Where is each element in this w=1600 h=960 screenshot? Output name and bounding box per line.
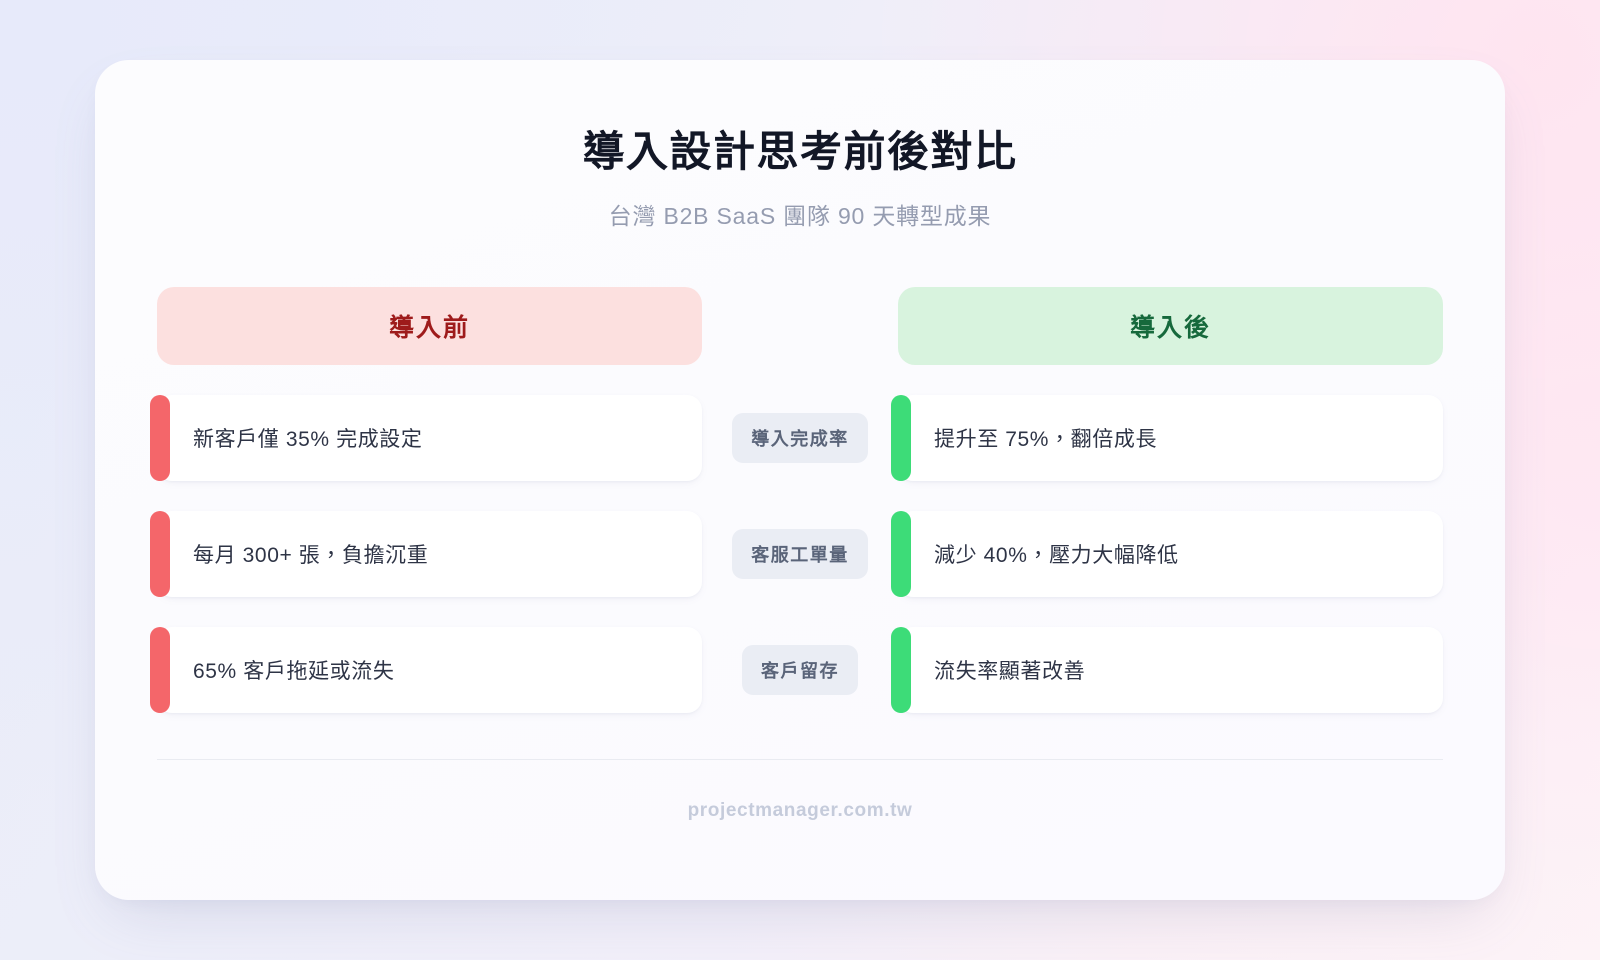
card-header: 導入設計思考前後對比 台灣 B2B SaaS 團隊 90 天轉型成果 bbox=[157, 112, 1443, 231]
after-accent-bar bbox=[891, 395, 911, 481]
column-header-before: 導入前 bbox=[157, 287, 702, 365]
metric-cell: 客服工單量 bbox=[702, 529, 898, 579]
metric-cell: 客戶留存 bbox=[702, 645, 898, 695]
metric-badge: 客服工單量 bbox=[732, 529, 868, 579]
metric-badge: 客戶留存 bbox=[742, 645, 858, 695]
before-accent-bar bbox=[150, 627, 170, 713]
before-item-text: 65% 客戶拖延或流失 bbox=[193, 655, 394, 685]
after-item-text: 提升至 75%，翻倍成長 bbox=[934, 423, 1157, 453]
after-item: 流失率顯著改善 bbox=[898, 627, 1443, 713]
after-item-text: 減少 40%，壓力大幅降低 bbox=[934, 539, 1179, 569]
metric-cell: 導入完成率 bbox=[702, 413, 898, 463]
before-accent-bar bbox=[150, 395, 170, 481]
grid-row-gap bbox=[157, 597, 702, 627]
page-subtitle: 台灣 B2B SaaS 團隊 90 天轉型成果 bbox=[157, 197, 1443, 231]
grid-row-gap bbox=[702, 597, 898, 627]
after-accent-bar bbox=[891, 511, 911, 597]
metric-badge: 導入完成率 bbox=[732, 413, 868, 463]
grid-row-gap bbox=[157, 481, 702, 511]
before-item-text: 新客戶僅 35% 完成設定 bbox=[193, 423, 423, 453]
comparison-grid: 導入前 導入後 新客戶僅 35% 完成設定 導入完成率 提升至 75%，翻倍成長… bbox=[157, 287, 1443, 713]
before-item-text: 每月 300+ 張，負擔沉重 bbox=[193, 539, 428, 569]
grid-row-gap bbox=[898, 365, 1443, 395]
grid-row-gap bbox=[702, 365, 898, 395]
grid-row-gap bbox=[898, 481, 1443, 511]
grid-row-gap bbox=[157, 365, 702, 395]
before-item: 每月 300+ 張，負擔沉重 bbox=[157, 511, 702, 597]
card-footer: projectmanager.com.tw bbox=[157, 759, 1443, 900]
comparison-card: 導入設計思考前後對比 台灣 B2B SaaS 團隊 90 天轉型成果 導入前 導… bbox=[95, 60, 1505, 900]
before-accent-bar bbox=[150, 511, 170, 597]
before-item: 65% 客戶拖延或流失 bbox=[157, 627, 702, 713]
after-item-text: 流失率顯著改善 bbox=[934, 655, 1085, 685]
after-item: 提升至 75%，翻倍成長 bbox=[898, 395, 1443, 481]
grid-row-gap bbox=[702, 481, 898, 511]
after-accent-bar bbox=[891, 627, 911, 713]
column-header-spacer bbox=[702, 287, 898, 365]
page-title: 導入設計思考前後對比 bbox=[157, 126, 1443, 179]
footer-site-label: projectmanager.com.tw bbox=[157, 760, 1443, 900]
before-item: 新客戶僅 35% 完成設定 bbox=[157, 395, 702, 481]
after-item: 減少 40%，壓力大幅降低 bbox=[898, 511, 1443, 597]
grid-row-gap bbox=[898, 597, 1443, 627]
column-header-after: 導入後 bbox=[898, 287, 1443, 365]
